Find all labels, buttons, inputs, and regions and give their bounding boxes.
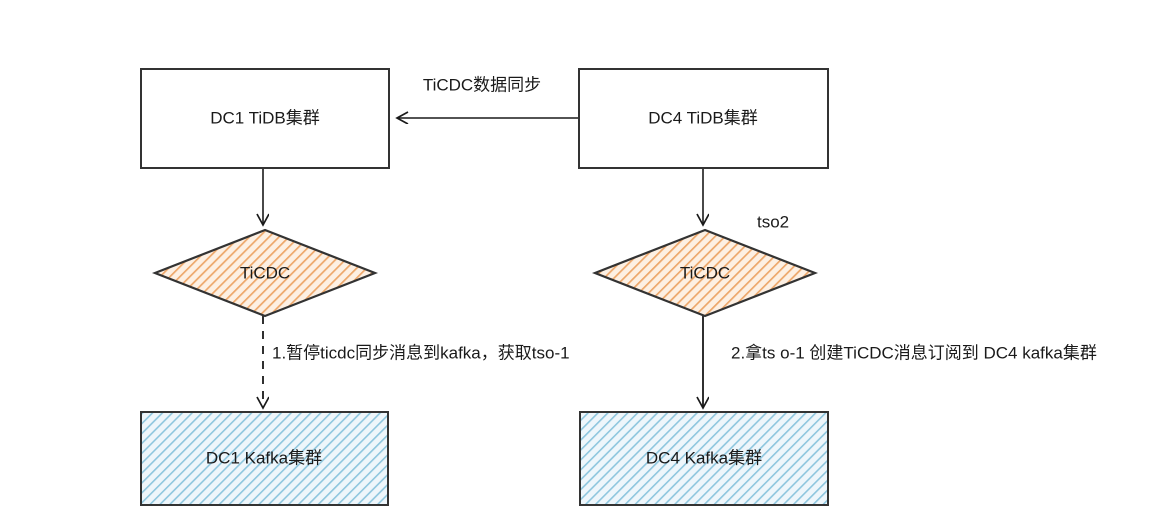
node-label-dc1-tidb: DC1 TiDB集群: [210, 108, 320, 127]
edge-label-tso2: tso2: [757, 212, 789, 231]
node-label-dc4-tidb: DC4 TiDB集群: [648, 108, 758, 127]
node-label-dc1-kafka: DC1 Kafka集群: [206, 448, 322, 467]
node-dc1-ticdc[interactable]: TiCDC: [155, 230, 375, 316]
node-dc1-kafka-cluster[interactable]: DC1 Kafka集群: [141, 412, 388, 505]
node-dc4-kafka-cluster[interactable]: DC4 Kafka集群: [580, 412, 828, 505]
node-label-dc4-kafka: DC4 Kafka集群: [646, 448, 762, 467]
node-dc4-tidb-cluster[interactable]: DC4 TiDB集群: [579, 69, 828, 168]
node-label-dc1-ticdc: TiCDC: [240, 263, 290, 282]
diagram-svg: DC1 TiDB集群 DC4 TiDB集群 TiCDC TiCDC DC1 Ka…: [0, 0, 1174, 516]
edge-label-ticdc-sync: TiCDC数据同步: [423, 75, 541, 94]
edge-label-step-2: 2.拿ts o-1 创建TiCDC消息订阅到 DC4 kafka集群: [731, 342, 1097, 362]
node-label-dc4-ticdc: TiCDC: [680, 263, 730, 282]
edge-label-step-1: 1.暂停ticdc同步消息到kafka，获取tso-1: [272, 343, 570, 362]
node-dc1-tidb-cluster[interactable]: DC1 TiDB集群: [141, 69, 389, 168]
node-dc4-ticdc[interactable]: TiCDC: [595, 230, 815, 316]
diagram-canvas: DC1 TiDB集群 DC4 TiDB集群 TiCDC TiCDC DC1 Ka…: [0, 0, 1174, 516]
